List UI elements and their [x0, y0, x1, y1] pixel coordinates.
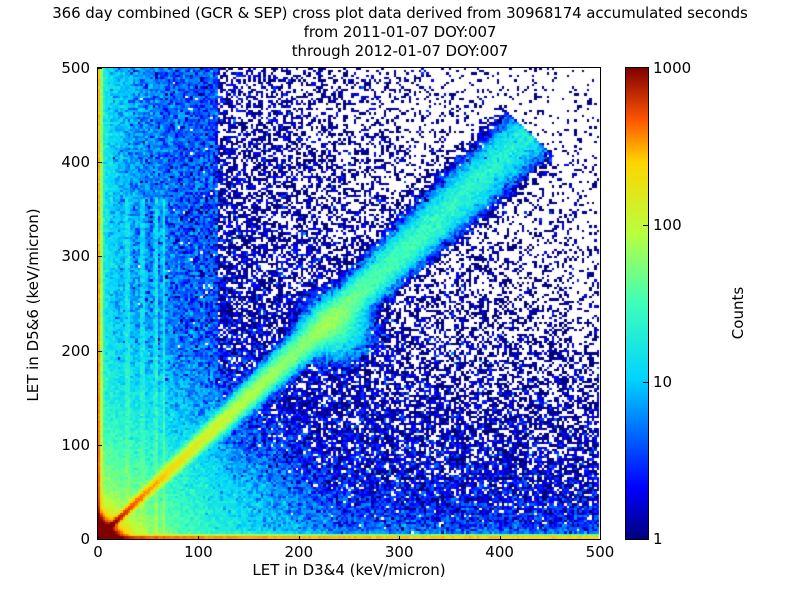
x-tick-label: 0: [93, 543, 103, 561]
x-tick-label: 500: [586, 543, 615, 561]
chart-title-line-2: from 2011-01-07 DOY:007: [0, 23, 800, 42]
x-tick-label: 100: [184, 543, 213, 561]
x-tick-label: 400: [485, 543, 514, 561]
y-tick-label: 200: [34, 342, 90, 360]
x-tick-mark: [600, 536, 601, 540]
figure-canvas: 366 day combined (GCR & SEP) cross plot …: [0, 0, 800, 600]
x-tick-mark: [299, 536, 300, 540]
x-axis-label: LET in D3&4 (keV/micron): [97, 561, 601, 579]
colorbar-tick-label: 100: [653, 216, 682, 234]
x-tick-label: 300: [385, 543, 414, 561]
x-tick-mark: [198, 536, 199, 540]
colorbar[interactable]: [625, 67, 649, 540]
y-tick-mark: [98, 162, 102, 163]
y-tick-mark: [98, 68, 102, 69]
y-tick-mark: [98, 256, 102, 257]
colorbar-label: Counts: [729, 193, 747, 433]
y-tick-mark: [98, 445, 102, 446]
colorbar-tick-mark: [643, 382, 648, 383]
x-tick-label: 200: [284, 543, 313, 561]
colorbar-tick-label: 1: [653, 530, 663, 548]
x-tick-mark: [399, 536, 400, 540]
colorbar-tick-label: 1000: [653, 59, 691, 77]
y-tick-mark: [98, 351, 102, 352]
y-tick-label: 0: [34, 530, 90, 548]
colorbar-gradient: [626, 68, 648, 539]
y-tick-label: 100: [34, 436, 90, 454]
chart-title-line-1: 366 day combined (GCR & SEP) cross plot …: [0, 4, 800, 23]
x-tick-mark: [500, 536, 501, 540]
density-heatmap: [98, 68, 600, 539]
chart-title: 366 day combined (GCR & SEP) cross plot …: [0, 4, 800, 61]
y-tick-label: 400: [34, 153, 90, 171]
y-axis-label: LET in D5&6 (keV/micron): [24, 155, 42, 455]
y-tick-mark: [98, 539, 102, 540]
y-tick-label: 500: [34, 59, 90, 77]
plot-area[interactable]: [97, 67, 601, 540]
colorbar-tick-mark: [643, 225, 648, 226]
colorbar-tick-label: 10: [653, 373, 672, 391]
y-tick-label: 300: [34, 247, 90, 265]
